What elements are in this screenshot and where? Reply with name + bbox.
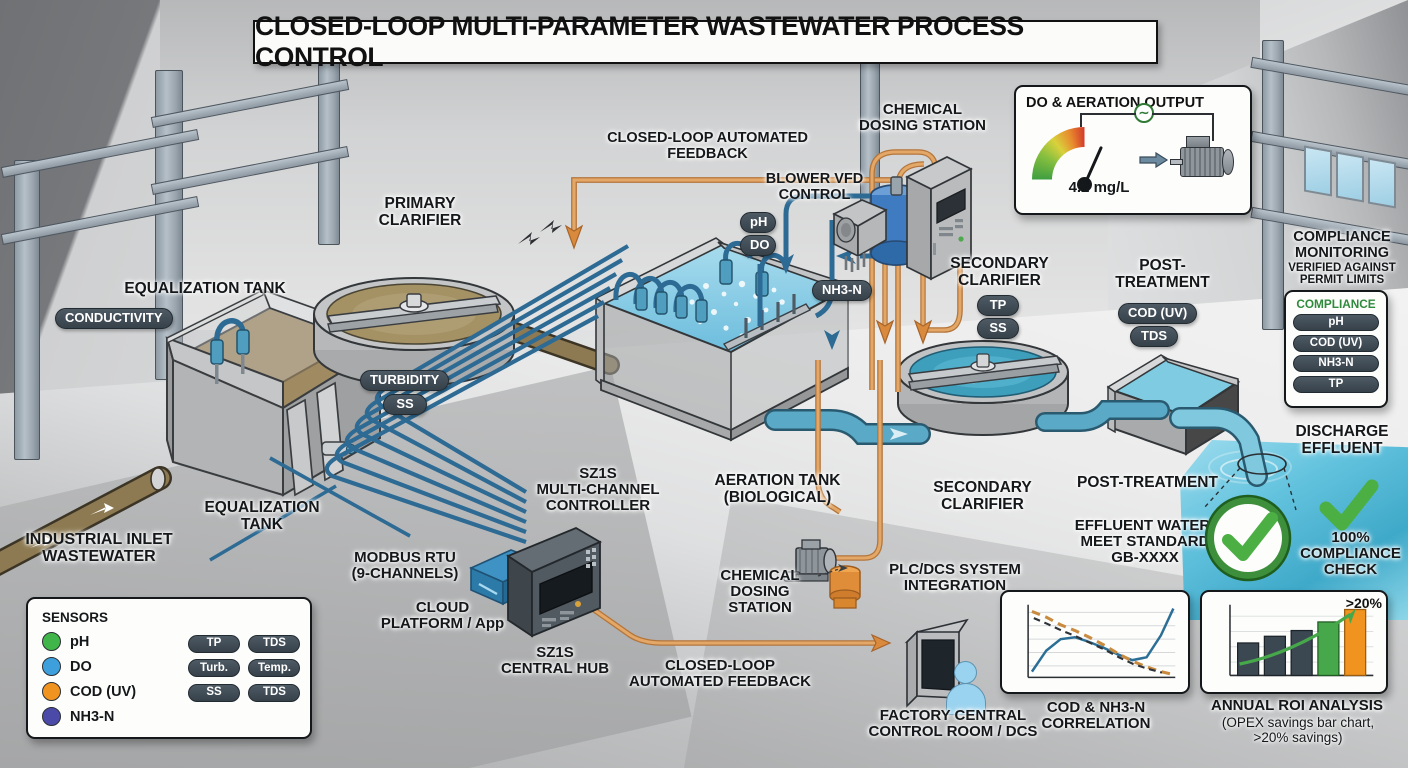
chart-2-title: ANNUAL ROI ANALYSIS (1202, 698, 1392, 714)
legend-label-cod: COD (UV) (70, 684, 136, 700)
ac-wire-left (1080, 113, 1136, 115)
legend-dot-cod (42, 682, 61, 701)
do-gauge-value: 4.2 mg/L (1040, 179, 1158, 196)
page-title-text: CLOSED-LOOP MULTI-PARAMETER WASTEWATER P… (255, 11, 1156, 73)
pill-nh3n-aeration[interactable]: NH3-N (812, 280, 872, 301)
page-title: CLOSED-LOOP MULTI-PARAMETER WASTEWATER P… (253, 20, 1158, 64)
label-compliance-verified: VERIFIED AGAINST PERMIT LIMITS (1278, 262, 1406, 287)
compliance-pill-cod[interactable]: COD (UV) (1293, 335, 1379, 352)
pill-do-aeration[interactable]: DO (740, 235, 776, 256)
pill-ph-aeration[interactable]: pH (740, 212, 776, 233)
flow-arrow-icon (1140, 153, 1168, 167)
wall-window-3 (1368, 158, 1396, 209)
legend-pill-temp[interactable]: Temp. (248, 659, 300, 677)
do-aeration-output-panel: DO & AERATION OUTPUT 4.2 mg/L ∼ (1014, 85, 1252, 215)
do-gauge: 4.2 mg/L (1032, 127, 1137, 189)
legend-title: SENSORS (42, 610, 296, 625)
pill-cod-post[interactable]: COD (UV) (1118, 303, 1197, 324)
roi-annotation: >20% (1346, 595, 1382, 611)
label-industrial-inlet: INDUSTRIAL INLET WASTEWATER (14, 531, 184, 566)
correlation-plot (1009, 599, 1181, 685)
roi-bar-plot (1209, 599, 1379, 685)
pill-tp-secondary[interactable]: TP (977, 295, 1019, 316)
pill-turbidity[interactable]: TURBIDITY (360, 370, 449, 391)
legend-pill-ss[interactable]: SS (188, 684, 240, 702)
label-feedback-bottom: CLOSED-LOOP AUTOMATED FEEDBACK (620, 658, 820, 690)
label-primary-clarifier: PRIMARY CLARIFIER (355, 196, 485, 229)
label-compliance-check: 100% COMPLIANCE CHECK (1298, 530, 1403, 579)
compliance-pill-tp[interactable]: TP (1293, 376, 1379, 393)
diagram-canvas: CLOSED-LOOP MULTI-PARAMETER WASTEWATER P… (0, 0, 1408, 768)
sz1s-central-hub[interactable] (500, 530, 605, 642)
cod-nh3n-correlation-chart (1000, 590, 1190, 694)
legend-dot-do (42, 657, 61, 676)
ac-wire-right (1152, 113, 1214, 115)
label-sz1s-controller: SZ1S MULTI-CHANNEL CONTROLLER (528, 466, 668, 515)
label-feedback-top: CLOSED-LOOP AUTOMATED FEEDBACK (565, 131, 850, 162)
pill-conductivity[interactable]: CONDUCTIVITY (55, 308, 173, 329)
label-blower-vfd: BLOWER VFD CONTROL (752, 172, 877, 203)
label-compliance-monitoring: COMPLIANCE MONITORING (1278, 230, 1406, 261)
legend-pill-tds-1[interactable]: TDS (248, 635, 300, 653)
wall-window-1 (1304, 146, 1332, 197)
label-aeration-tank: AERATION TANK (BIOLOGICAL) (690, 473, 865, 506)
compliance-check-mark (1320, 478, 1380, 534)
blower-vfd-unit[interactable] (828, 192, 894, 277)
sensor-legend: SENSORS pH DO COD (UV) NH3-N TP TDS Turb… (26, 597, 312, 739)
do-card-title: DO & AERATION OUTPUT (1026, 95, 1240, 111)
label-chemical-dosing-bottom: CHEMICAL DOSING STATION (700, 568, 820, 617)
pill-ss-primary[interactable]: SS (383, 394, 427, 415)
label-secondary-clarifier-top: SECONDARY CLARIFIER (932, 256, 1067, 289)
compliance-card-title: COMPLIANCE (1293, 297, 1379, 311)
blower-motor-icon (1170, 135, 1236, 185)
chart-1-title: COD & NH3-N CORRELATION (1010, 700, 1182, 732)
label-effluent-standard: EFFLUENT WATER: MEET STANDARD GB-XXXX (1070, 518, 1220, 567)
label-central-hub: SZ1S CENTRAL HUB (490, 645, 620, 677)
annual-roi-analysis-chart: >20% (1200, 590, 1388, 694)
compliance-pill-nh3n[interactable]: NH3-N (1293, 355, 1379, 372)
label-chemical-dosing-top: CHEMICAL DOSING STATION (845, 102, 1000, 134)
pill-ss-secondary[interactable]: SS (977, 318, 1019, 339)
legend-dot-ph (42, 632, 61, 651)
pill-tds-post[interactable]: TDS (1130, 326, 1178, 347)
legend-pill-tds-2[interactable]: TDS (248, 684, 300, 702)
ac-power-icon: ∼ (1134, 103, 1154, 123)
chart-2-subtitle: (OPEX savings bar chart, >20% savings) (1196, 716, 1400, 745)
compliance-monitoring-panel: COMPLIANCE pH COD (UV) NH3-N TP (1284, 290, 1388, 408)
motor-endcap (1222, 149, 1234, 175)
label-cloud-platform: CLOUD PLATFORM / App (370, 600, 515, 632)
label-modbus-rtu: MODBUS RTU (9-CHANNELS) (330, 550, 480, 582)
operator-avatar-head (954, 661, 977, 684)
legend-label-nh3n: NH3-N (70, 709, 114, 725)
label-post-treatment-top: POST- TREATMENT (1110, 258, 1215, 291)
compliance-pill-ph[interactable]: pH (1293, 314, 1379, 331)
label-secondary-clarifier-bottom: SECONDARY CLARIFIER (910, 480, 1055, 513)
legend-dot-nh3n (42, 707, 61, 726)
motor-shaft (1170, 159, 1183, 165)
legend-label-ph: pH (70, 634, 89, 650)
ac-wire-drop-left (1080, 113, 1082, 127)
label-equalization-tank-top: EQUALIZATION TANK (110, 281, 300, 298)
motor-stator (1180, 147, 1224, 177)
legend-pill-turb[interactable]: Turb. (188, 659, 240, 677)
legend-label-do: DO (70, 659, 92, 675)
compliance-check-badge-large (1202, 492, 1294, 584)
dosing-feed-dashes (818, 560, 858, 584)
legend-pill-tp[interactable]: TP (188, 635, 240, 653)
legend-pill-group: TP TDS Turb. Temp. SS TDS (188, 633, 308, 707)
label-equalization-tank-bottom: EQUALIZATION TANK (192, 500, 332, 533)
legend-row-nh3n: NH3-N (42, 704, 296, 729)
wall-window-2 (1336, 152, 1364, 203)
